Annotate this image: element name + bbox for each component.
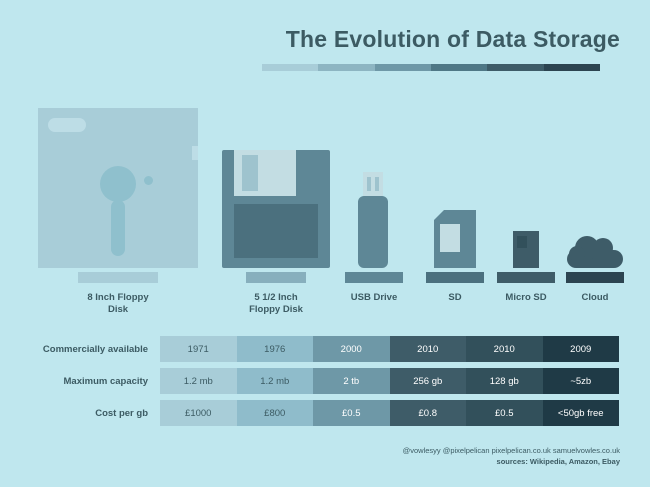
- shadow-five-quarter-floppy: [246, 272, 306, 283]
- floppy-shutter-slot-icon: [242, 155, 258, 191]
- cell-capacity-usb-drive: 2 tb: [313, 368, 390, 394]
- floppy-hub-icon: [100, 166, 136, 202]
- title-bar-2: [375, 64, 431, 71]
- cell-capacity-cloud: ~5zb: [543, 368, 620, 394]
- footer-credits: @vowlesyy @pixelpelican pixelpelican.co.…: [403, 445, 620, 467]
- title-bar-3: [431, 64, 487, 71]
- caption-line-1: Cloud: [545, 292, 645, 304]
- floppy-head-slot-icon: [111, 200, 125, 256]
- floppy-notch-icon: [192, 146, 198, 160]
- cell-available-8-inch-floppy: 1971: [160, 336, 237, 362]
- footer-line-2: sources: Wikipedia, Amazon, Ebay: [403, 456, 620, 467]
- cell-cost-8-inch-floppy: £1000: [160, 400, 237, 426]
- footer-line-1: @vowlesyy @pixelpelican pixelpelican.co.…: [403, 445, 620, 456]
- cell-cost-micro-sd-card: £0.5: [466, 400, 543, 426]
- shadow-micro-sd-card: [497, 272, 555, 283]
- table-row: Maximum capacity 1.2 mb 1.2 mb 2 tb 256 …: [30, 368, 620, 394]
- floppy-label-area-icon: [234, 204, 318, 258]
- title-bar-0: [262, 64, 318, 71]
- caption-cloud: Cloud: [545, 292, 645, 304]
- cell-cost-cloud: <50gb free: [543, 400, 620, 426]
- row-label-cost-per-gb: Cost per gb: [30, 400, 160, 426]
- cell-available-micro-sd-card: 2010: [466, 336, 543, 362]
- comparison-table: Commercially available 1971 1976 2000 20…: [30, 336, 620, 432]
- table-row: Commercially available 1971 1976 2000 20…: [30, 336, 620, 362]
- caption-line-2: Floppy Disk: [226, 304, 326, 316]
- floppy-shutter-icon: [48, 118, 86, 132]
- cell-capacity-8-inch-floppy: 1.2 mb: [160, 368, 237, 394]
- title-bar-4: [487, 64, 543, 71]
- caption-five-quarter-floppy: 5 1/2 Inch Floppy Disk: [226, 292, 326, 316]
- sd-card-label-icon: [440, 224, 460, 252]
- caption-line-1: 5 1/2 Inch: [226, 292, 326, 304]
- infographic-canvas: The Evolution of Data Storage: [0, 0, 650, 487]
- five-quarter-floppy-icon: [222, 150, 330, 268]
- cell-available-five-quarter-floppy: 1976: [237, 336, 314, 362]
- caption-line-1: 8 Inch Floppy: [68, 292, 168, 304]
- shadow-sd-card: [426, 272, 484, 283]
- shadow-usb-drive: [345, 272, 403, 283]
- shadow-cloud: [566, 272, 624, 283]
- cell-cost-five-quarter-floppy: £800: [237, 400, 314, 426]
- caption-8-inch-floppy: 8 Inch Floppy Disk: [68, 292, 168, 316]
- row-label-commercially-available: Commercially available: [30, 336, 160, 362]
- device-illustrations: 8 Inch Floppy Disk 5 1/2 Inch Floppy Dis…: [0, 90, 650, 320]
- cell-available-usb-drive: 2000: [313, 336, 390, 362]
- cell-available-sd-card: 2010: [390, 336, 467, 362]
- micro-sd-contacts-icon: [517, 236, 527, 248]
- floppy-metal-shutter-icon: [234, 150, 296, 196]
- floppy-index-hole-icon: [144, 176, 153, 185]
- usb-drive-icon: [358, 172, 388, 268]
- cell-available-cloud: 2009: [543, 336, 620, 362]
- title-bar-1: [318, 64, 374, 71]
- cloud-icon: [567, 230, 623, 268]
- usb-body-icon: [358, 196, 388, 268]
- shadow-8-inch-floppy: [78, 272, 158, 283]
- title-color-bars: [262, 64, 600, 71]
- usb-connector-icon: [363, 172, 383, 198]
- page-title: The Evolution of Data Storage: [260, 26, 620, 53]
- table-row: Cost per gb £1000 £800 £0.5 £0.8 £0.5 <5…: [30, 400, 620, 426]
- 8-inch-floppy-icon: [38, 108, 198, 268]
- micro-sd-card-icon: [513, 231, 539, 268]
- cell-capacity-five-quarter-floppy: 1.2 mb: [237, 368, 314, 394]
- cell-cost-sd-card: £0.8: [390, 400, 467, 426]
- caption-line-2: Disk: [68, 304, 168, 316]
- cell-capacity-sd-card: 256 gb: [390, 368, 467, 394]
- row-label-maximum-capacity: Maximum capacity: [30, 368, 160, 394]
- sd-card-icon: [434, 210, 476, 268]
- cell-capacity-micro-sd-card: 128 gb: [466, 368, 543, 394]
- title-bar-5: [544, 64, 600, 71]
- cell-cost-usb-drive: £0.5: [313, 400, 390, 426]
